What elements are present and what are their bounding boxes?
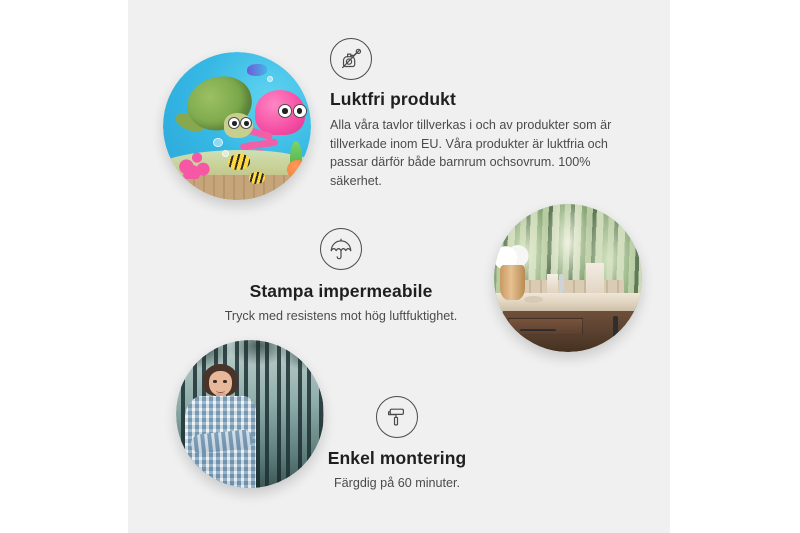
coral-shape [175,138,213,179]
octopus-eye-shape [278,104,292,118]
feature-body: Färgdig på 60 minuter. [286,474,508,493]
tile-backsplash-shape [509,280,624,293]
faucet-shape [559,274,563,293]
product-photo-bathroom-botanical-wallpaper[interactable] [494,204,642,352]
vanity-drawer-shape [508,318,582,335]
bubble-icon [213,138,222,147]
feature-block-waterproof-print: Stampa impermeabile Tryck med resistens … [206,228,476,326]
feature-title: Stampa impermeabile [206,281,476,302]
gold-vase-shape [500,265,525,301]
cabinet-handle-shape [613,316,619,342]
wood-vanity-shape [503,311,642,352]
soap-dish-shape [524,296,543,303]
toiletry-bottle-shape [586,263,604,296]
product-photo-ocean-kids-mural[interactable] [163,52,311,200]
woman-eye-shape [223,380,227,383]
striped-fish-shape [249,172,265,184]
feature-title: Enkel montering [286,448,508,469]
feature-title: Luktfri produkt [330,89,618,110]
feature-body: Tryck med resistens mot hög luftfuktighe… [206,307,476,326]
feature-block-odour-free: Luktfri produkt Alla våra tavlor tillver… [330,38,618,191]
photo-bath-inner [494,204,642,352]
octopus-eye-shape [293,104,307,118]
woman-eye-shape [213,380,217,383]
drawer-handle-shape [520,329,556,331]
paint-roller-icon [376,396,418,438]
no-fragrance-icon [330,38,372,80]
feature-body: Alla våra tavlor tillverkas i och av pro… [330,116,618,191]
purple-fish-shape [247,64,266,76]
bubble-icon [267,76,273,82]
umbrella-icon [320,228,362,270]
toiletry-bottle-shape [547,274,557,295]
infographic-stage: Luktfri produkt Alla våra tavlor tillver… [0,0,800,533]
woman-smile-shape [216,388,225,393]
photo-ocean-inner [163,52,311,200]
feature-block-easy-mounting: Enkel montering Färgdig på 60 minuter. [286,396,508,493]
